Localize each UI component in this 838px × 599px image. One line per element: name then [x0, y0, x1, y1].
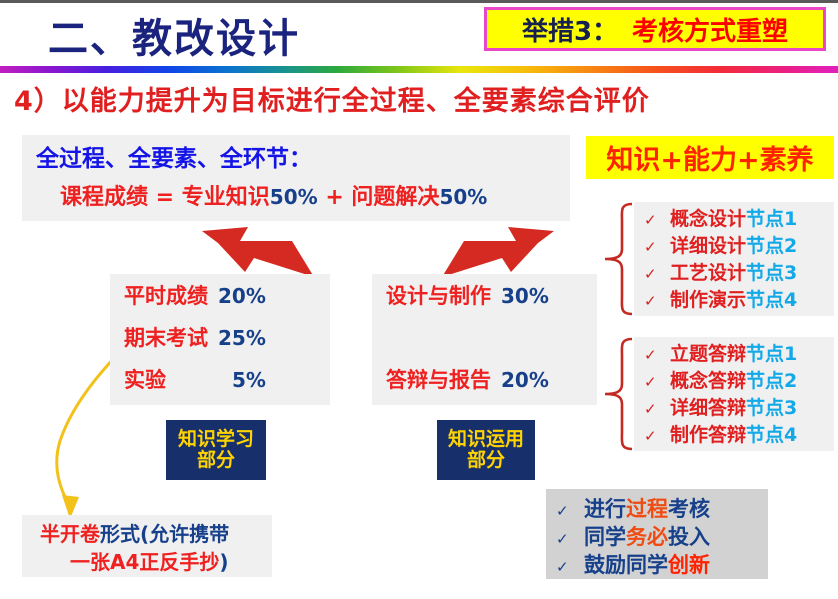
exam-note-text: 形式(允许携带 — [100, 522, 229, 546]
tag-knowledge-learning: 知识学习部分 — [166, 420, 266, 480]
node-row: ✓制作演示节点4 — [644, 285, 797, 312]
reminder-row: ✓鼓励同学创新 — [556, 549, 710, 579]
rainbow-divider — [0, 66, 838, 73]
node-row: ✓立题答辩节点1 — [644, 339, 797, 366]
node-row: ✓详细设计节点2 — [644, 231, 797, 258]
score-pct: 30% — [501, 284, 549, 308]
check-icon: ✓ — [644, 211, 670, 229]
node-panel-design: ✓概念设计节点1 ✓详细设计节点2 ✓工艺设计节点3 ✓制作演示节点4 — [634, 202, 834, 316]
brace-design-icon — [602, 201, 636, 317]
check-icon: ✓ — [644, 427, 670, 445]
formula-pct-knowledge: 50% — [270, 185, 318, 209]
node-tag: 节点1 — [746, 343, 797, 365]
node-tag: 节点1 — [746, 208, 797, 230]
measure-badge-value: 考核方式重塑 — [632, 11, 788, 48]
score-name: 平时成绩 — [124, 284, 208, 308]
check-icon: ✓ — [644, 346, 670, 364]
exam-note-tail: ) — [219, 550, 228, 574]
check-icon: ✓ — [556, 502, 584, 520]
node-label: 立题答辩 — [670, 343, 746, 365]
score-panel-learning: 平时成绩20% 期末考试25% 实验5% — [110, 274, 330, 405]
arrow-down-left-icon — [196, 225, 336, 281]
reminder-pre: 同学 — [584, 525, 626, 549]
node-row: ✓制作答辩节点4 — [644, 420, 797, 447]
exam-format-note: 半开卷形式(允许携带 一张A4正反手抄) — [22, 515, 272, 577]
node-row: ✓工艺设计节点3 — [644, 258, 797, 285]
node-label: 制作答辩 — [670, 424, 746, 446]
reminder-post: 投入 — [668, 525, 710, 549]
exam-note-line-1: 半开卷形式(允许携带 — [40, 518, 229, 547]
reminder-highlight: 创新 — [668, 553, 710, 577]
score-row: 设计与制作30% — [386, 280, 549, 310]
score-row: 答辩与报告20% — [386, 364, 549, 394]
check-icon: ✓ — [644, 292, 670, 310]
formula-panel: 全过程、全要素、全环节： 课程成绩 = 专业知识50% + 问题解决50% — [22, 135, 570, 221]
check-icon: ✓ — [644, 400, 670, 418]
score-name: 设计与制作 — [386, 284, 491, 308]
node-row: ✓概念答辩节点2 — [644, 366, 797, 393]
node-label: 详细答辩 — [670, 397, 746, 419]
reminder-pre: 进行 — [584, 497, 626, 521]
score-pct: 20% — [218, 284, 266, 308]
measure-badge: 举措3： 考核方式重塑 — [484, 7, 826, 51]
measure-badge-label: 举措3： — [522, 11, 618, 48]
node-tag: 节点3 — [746, 397, 797, 419]
section-heading: 4）以能力提升为目标进行全过程、全要素综合评价 — [14, 79, 650, 118]
node-tag: 节点2 — [746, 235, 797, 257]
slide-header: 二、教改设计 举措3： 考核方式重塑 — [0, 3, 838, 61]
node-label: 概念答辩 — [670, 370, 746, 392]
check-icon: ✓ — [556, 530, 584, 548]
node-row: ✓详细答辩节点3 — [644, 393, 797, 420]
arrow-down-right-icon — [420, 225, 560, 281]
formula-pct-problem: 50% — [439, 185, 487, 209]
exam-note-highlight: A4正反手抄 — [110, 550, 219, 574]
page-title: 二、教改设计 — [48, 6, 300, 64]
formula-course-score: 课程成绩 = — [60, 185, 182, 210]
check-icon: ✓ — [556, 558, 584, 576]
score-name: 期末考试 — [124, 326, 208, 350]
node-tag: 节点4 — [746, 424, 797, 446]
exam-note-line-2: 一张A4正反手抄) — [70, 546, 229, 575]
reminder-row: ✓进行过程考核 — [556, 493, 710, 523]
reminders-panel: ✓进行过程考核 ✓同学务必投入 ✓鼓励同学创新 — [546, 489, 768, 579]
score-pct: 20% — [501, 368, 549, 392]
node-tag: 节点3 — [746, 262, 797, 284]
node-row: ✓概念设计节点1 — [644, 204, 797, 231]
node-label: 工艺设计 — [670, 262, 746, 284]
reminder-row: ✓同学务必投入 — [556, 521, 710, 551]
slide-canvas: 二、教改设计 举措3： 考核方式重塑 4）以能力提升为目标进行全过程、全要素综合… — [0, 0, 838, 599]
exam-note-highlight: 半开卷 — [40, 522, 100, 546]
score-row: 实验5% — [124, 364, 266, 394]
competency-badge: 知识+能力+素养 — [586, 136, 834, 179]
check-icon: ✓ — [644, 265, 670, 283]
reminder-post: 考核 — [668, 497, 710, 521]
score-pct: 25% — [218, 326, 266, 350]
node-panel-defense: ✓立题答辩节点1 ✓概念答辩节点2 ✓详细答辩节点3 ✓制作答辩节点4 — [634, 337, 834, 451]
competency-badge-text: 知识+能力+素养 — [606, 138, 813, 177]
node-label: 详细设计 — [670, 235, 746, 257]
check-icon: ✓ — [644, 373, 670, 391]
score-name: 答辩与报告 — [386, 368, 491, 392]
reminder-pre: 鼓励同学 — [584, 553, 668, 577]
score-name: 实验 — [124, 368, 166, 392]
reminder-highlight: 务必 — [626, 525, 668, 549]
node-label: 概念设计 — [670, 208, 746, 230]
formula-term-knowledge: 专业知识 — [182, 185, 270, 210]
formula-plus: + — [318, 185, 352, 210]
score-pct: 5% — [232, 368, 266, 392]
node-label: 制作演示 — [670, 289, 746, 311]
exam-note-text: 一张 — [70, 550, 110, 574]
brace-defense-icon — [602, 336, 636, 452]
score-row: 平时成绩20% — [124, 280, 266, 310]
score-panel-applying: 设计与制作30% 答辩与报告20% — [372, 274, 597, 405]
formula-term-problem: 问题解决 — [351, 185, 439, 210]
node-tag: 节点4 — [746, 289, 797, 311]
formula-scope-line: 全过程、全要素、全环节： — [36, 139, 312, 173]
reminder-highlight: 过程 — [626, 497, 668, 521]
node-tag: 节点2 — [746, 370, 797, 392]
formula-expression: 课程成绩 = 专业知识50% + 问题解决50% — [60, 179, 487, 211]
tag-knowledge-applying: 知识运用部分 — [437, 420, 535, 480]
score-row: 期末考试25% — [124, 322, 266, 352]
check-icon: ✓ — [644, 238, 670, 256]
